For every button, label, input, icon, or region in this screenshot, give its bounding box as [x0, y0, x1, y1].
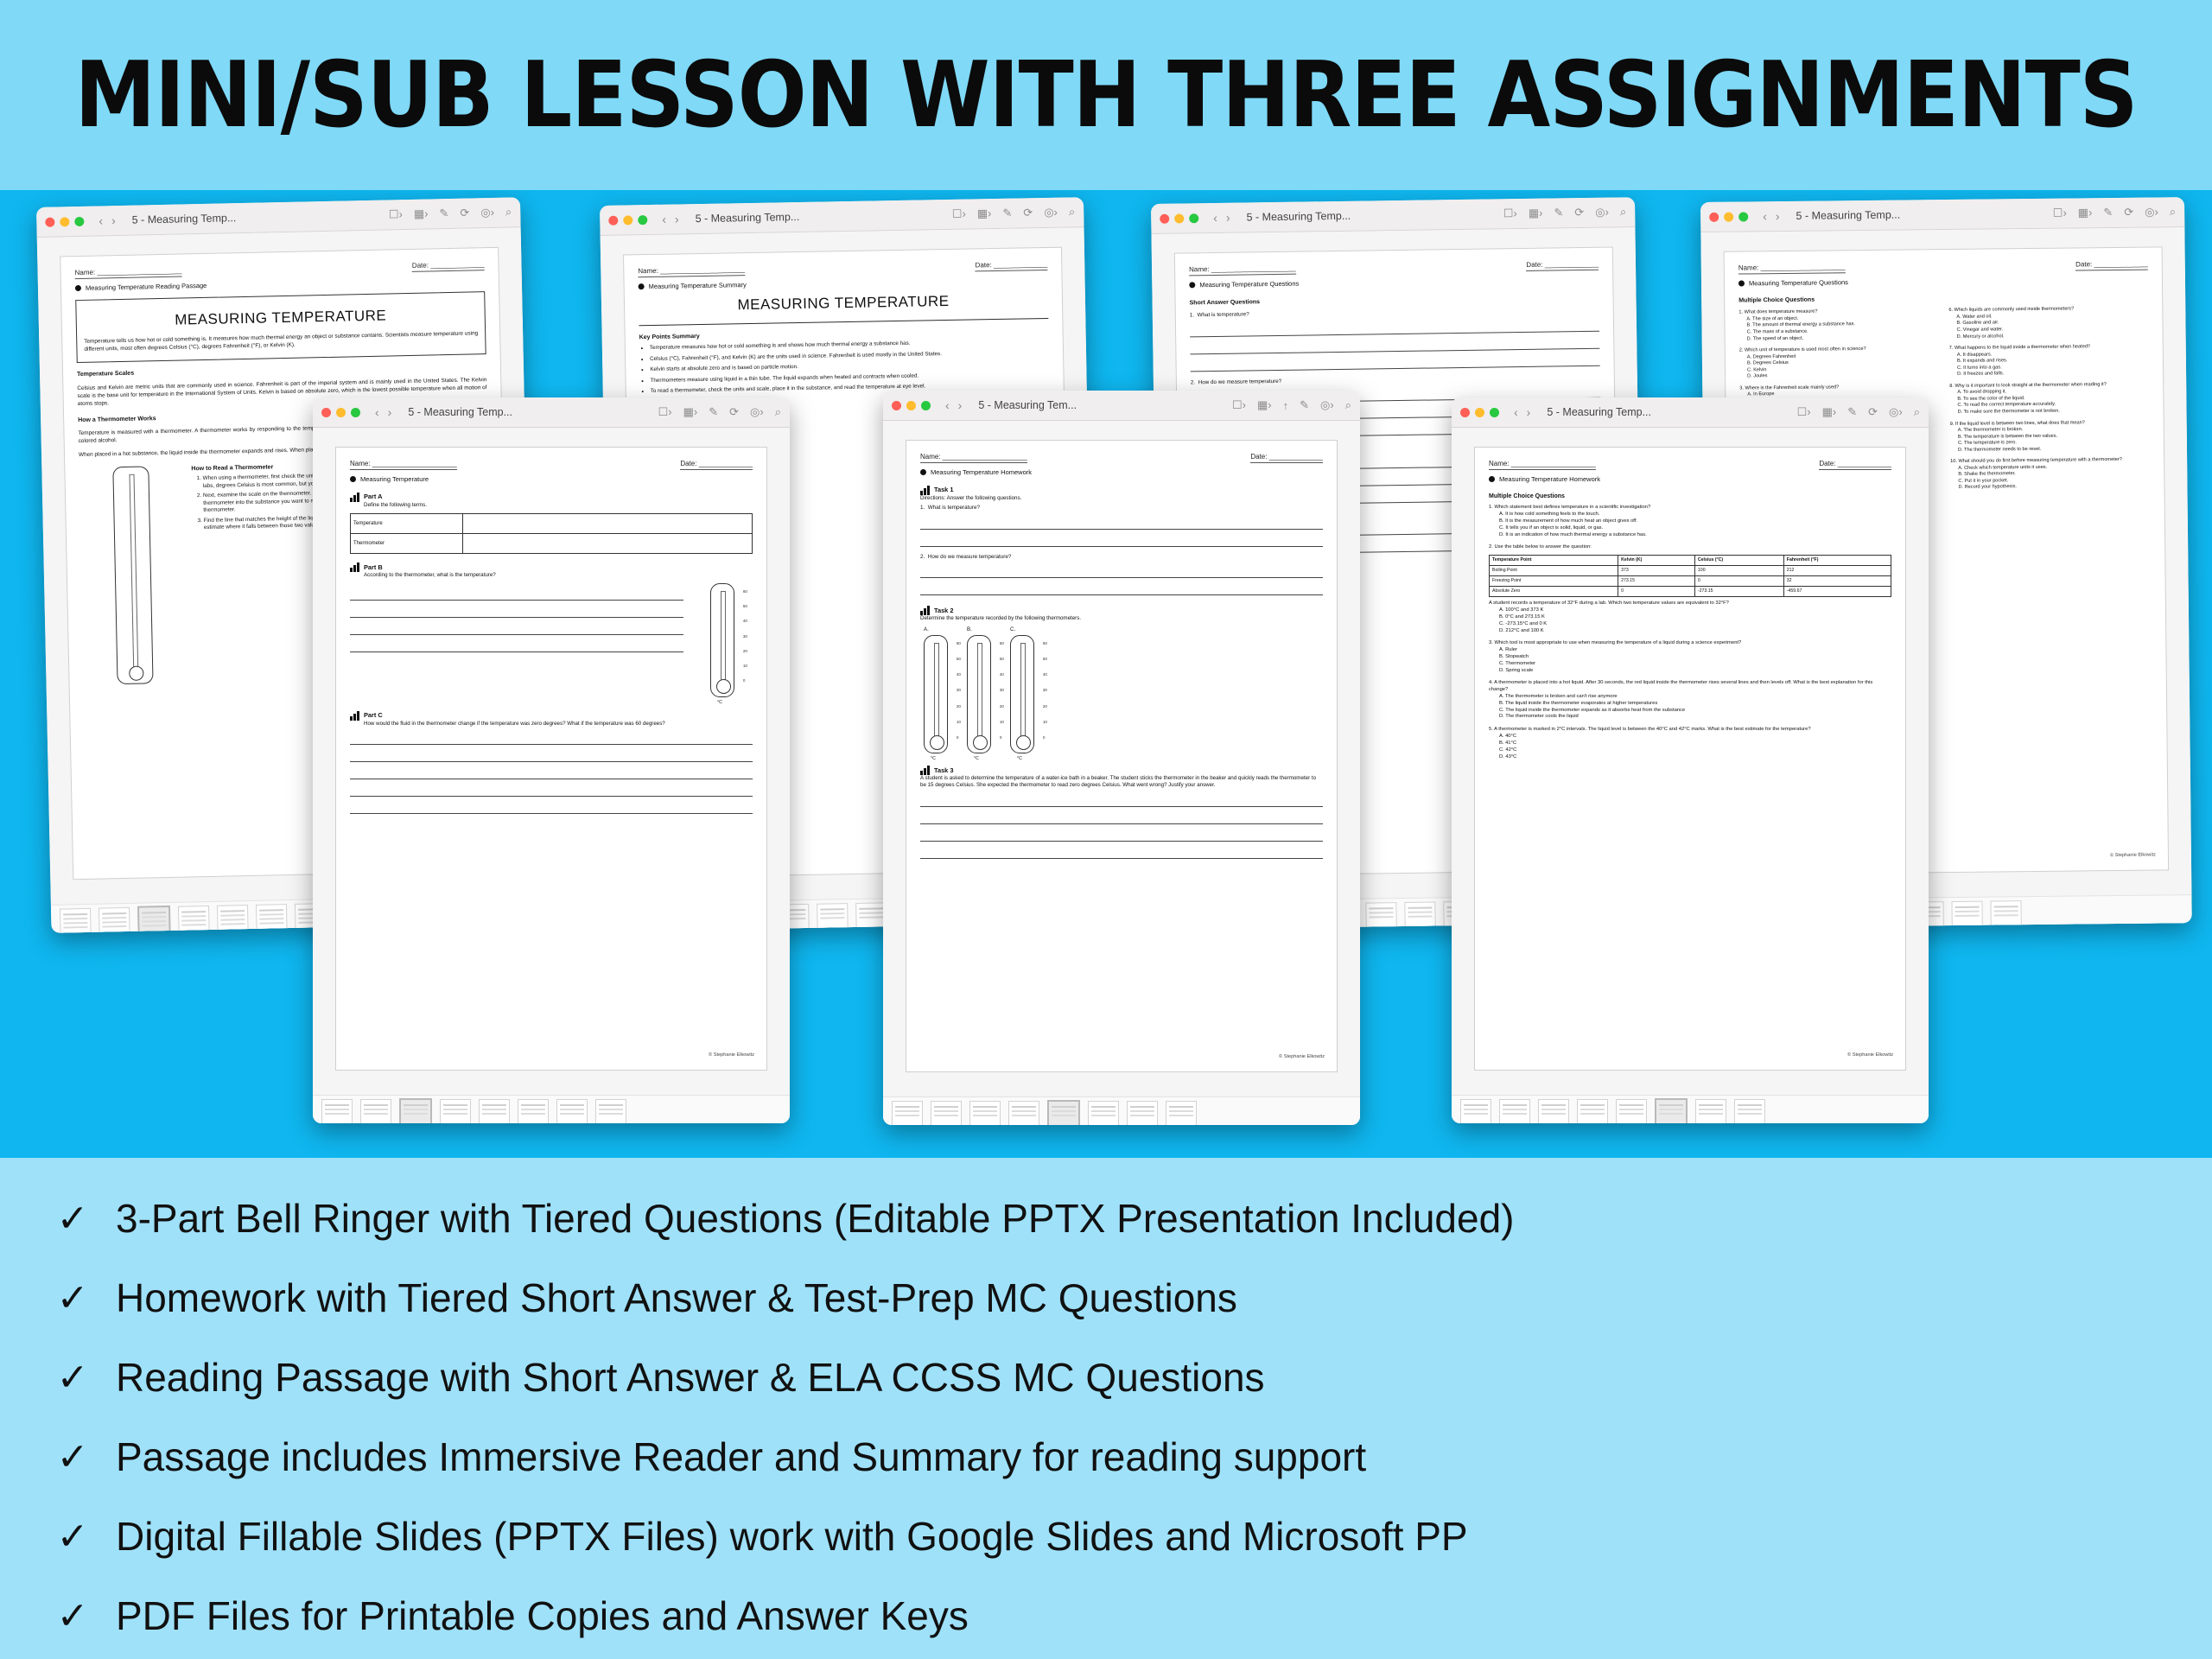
search-icon[interactable]: ⌕	[775, 405, 781, 419]
answer-line[interactable]	[350, 607, 683, 618]
header-banner: MINI/SUB LESSON WITH THREE ASSIGNMENTS	[0, 0, 2212, 190]
thumbnail-5[interactable]	[217, 905, 249, 933]
definitions-table[interactable]: Temperature Thermometer	[350, 513, 753, 554]
markup-icon[interactable]: ✎	[1002, 207, 1012, 220]
mc-option[interactable]: A. Ruler	[1499, 647, 1891, 654]
mc-option[interactable]: C. -273.15°C and 0 K	[1499, 621, 1891, 628]
thermometer-unit: °C	[1017, 756, 1022, 762]
thumbnail-3[interactable]	[137, 905, 171, 932]
more-icon[interactable]: ◎›	[2145, 205, 2158, 219]
divider	[639, 318, 1048, 326]
window-toolbar[interactable]: ☐› ▦› ✎ ⟳ ◎› ⌕	[658, 405, 781, 419]
task2-header: Task 2	[920, 606, 1323, 615]
thumbnail-2[interactable]	[99, 906, 130, 932]
thumbnail-4[interactable]	[440, 1099, 471, 1124]
bar-chart-icon	[920, 606, 930, 615]
feature-item: ✓ Digital Fillable Slides (PPTX Files) w…	[52, 1497, 2160, 1576]
org-line: Measuring Temperature Summary	[639, 276, 1048, 291]
mc-option[interactable]: D. It freezes and falls.	[1957, 370, 2149, 378]
bullet-icon	[1189, 283, 1195, 289]
mc-option[interactable]: B. The liquid inside the thermometer eva…	[1499, 701, 1891, 708]
thumbnail-7[interactable]	[1404, 901, 1436, 930]
thermometer-graphic: 60 50 40 30 20 10 0 °C	[1010, 635, 1034, 753]
thermometer-bulb	[716, 679, 731, 694]
answer-line[interactable]	[350, 589, 683, 601]
thumbnail-7[interactable]	[556, 1099, 588, 1124]
thumbnail-1[interactable]	[1460, 1099, 1491, 1124]
thumbnail-6[interactable]	[1655, 1098, 1688, 1124]
thumbnail-7[interactable]	[1951, 900, 1982, 928]
finder-window-homework-short-answer[interactable]: ‹› 5 - Measuring Tem... ☐› ▦› ↑ ✎ ◎› ⌕ N…	[883, 391, 1360, 1125]
grid-icon[interactable]: ▦›	[1529, 207, 1543, 220]
thumbnail-3[interactable]	[399, 1098, 432, 1124]
forward-chevron-icon[interactable]: ›	[111, 213, 116, 227]
view-mode-icon[interactable]: ☐›	[389, 207, 403, 221]
document-preview-area: Name: ______________________ Date: _____…	[1452, 428, 1929, 1123]
rotate-icon[interactable]: ⟳	[2124, 206, 2133, 219]
minimize-icon[interactable]	[1174, 213, 1184, 223]
table-cell: 212	[1783, 566, 1891, 576]
rotate-icon[interactable]: ⟳	[1023, 206, 1033, 219]
mc-option[interactable]: A. 40°C	[1499, 734, 1891, 741]
table-cell-answer[interactable]	[463, 534, 753, 554]
back-chevron-icon[interactable]: ‹	[1514, 405, 1518, 419]
date-field[interactable]: Date: ______________	[1819, 460, 1891, 470]
answer-line[interactable]	[920, 518, 1323, 530]
thumbnail-7[interactable]	[1127, 1101, 1158, 1126]
grid-icon[interactable]: ▦›	[1822, 405, 1837, 419]
window-toolbar[interactable]: ☐› ▦› ✎ ⟳ ◎› ⌕	[952, 205, 1076, 220]
close-icon[interactable]	[892, 401, 901, 410]
screenshot-stage: ‹› 5 - Measuring Temp... ☐› ▦› ✎ ⟳ ◎› ⌕ …	[0, 190, 2212, 1158]
worksheet-title: MEASURING TEMPERATURE	[639, 290, 1048, 317]
thumbnail-strip[interactable]	[883, 1096, 1360, 1125]
view-mode-icon[interactable]: ☐›	[1232, 398, 1246, 412]
name-field[interactable]: Name: ______________________	[1489, 460, 1596, 470]
window-toolbar[interactable]: ☐› ▦› ↑ ✎ ◎› ⌕	[1232, 398, 1351, 412]
table-cell: 100	[1694, 566, 1783, 576]
name-date-row: Name: ______________________ Date: _____…	[350, 460, 753, 470]
name-field[interactable]: Name: ______________________	[1738, 263, 1846, 274]
search-icon[interactable]: ⌕	[2170, 205, 2176, 219]
table-cell: 0	[1618, 587, 1695, 597]
question-item: 1. What is temperature?	[920, 505, 1323, 512]
traffic-lights[interactable]	[1160, 213, 1198, 224]
minimize-icon[interactable]	[336, 408, 346, 417]
view-mode-icon[interactable]: ☐›	[952, 207, 966, 221]
mc-option[interactable]: D. 212°C and 100 K	[1499, 628, 1891, 635]
zoom-icon[interactable]	[638, 215, 647, 225]
back-chevron-icon[interactable]: ‹	[1213, 211, 1217, 225]
mc-option[interactable]: D. The thermometer cools the liquid	[1499, 714, 1891, 721]
grid-icon[interactable]: ▦›	[1257, 398, 1272, 412]
date-field[interactable]: Date: ______________	[412, 260, 485, 272]
search-icon[interactable]: ⌕	[1914, 405, 1920, 419]
date-field[interactable]: Date: ______________	[1250, 453, 1323, 463]
thumbnail-7[interactable]	[1695, 1099, 1726, 1124]
mc-option[interactable]: D. Record your hypothesis.	[1958, 483, 2150, 492]
section-title: Multiple Choice Questions	[1738, 293, 2148, 305]
thermometer-bulb	[930, 735, 944, 750]
search-icon[interactable]: ⌕	[505, 205, 512, 219]
org-line: Measuring Temperature Reading Passage	[75, 276, 485, 293]
grid-icon[interactable]: ▦›	[2078, 206, 2093, 219]
date-field[interactable]: Date: ______________	[2075, 260, 2148, 271]
thermometer-scale: 60 50 40 30 20 10 0	[743, 589, 747, 684]
table-cell: -459.67	[1783, 587, 1891, 597]
feature-text: Digital Fillable Slides (PPTX Files) wor…	[116, 1513, 1468, 1560]
mc-option[interactable]: C. Thermometer	[1499, 661, 1891, 668]
mc-option[interactable]: D. Joules	[1747, 372, 1939, 380]
answer-line[interactable]	[350, 751, 753, 762]
zoom-icon[interactable]	[1189, 213, 1198, 223]
window-nav[interactable]: ‹›	[1763, 209, 1780, 223]
share-icon[interactable]: ↑	[1283, 399, 1289, 412]
section-title: Short Answer Questions	[1190, 294, 1599, 308]
mc-option[interactable]: B. 0°C and 273.15 K	[1499, 614, 1891, 621]
mc-option[interactable]: B. Stopwatch	[1499, 654, 1891, 661]
document-preview-area: Name: ______________________ Date: _____…	[883, 421, 1360, 1125]
thumbnail-4[interactable]	[178, 905, 210, 932]
thumbnail-4[interactable]	[1577, 1099, 1608, 1124]
window-toolbar[interactable]: ☐› ▦› ✎ ⟳ ◎› ⌕	[389, 205, 512, 221]
worksheet-page: Name: ______________________ Date: _____…	[906, 440, 1338, 1072]
close-icon[interactable]	[1160, 213, 1169, 223]
org-line: Measuring Temperature Questions	[1738, 275, 2148, 288]
zoom-icon[interactable]	[351, 408, 360, 417]
markup-icon[interactable]: ✎	[1554, 206, 1563, 219]
mc-option[interactable]: D. It is an indication of how much therm…	[1499, 532, 1891, 539]
window-nav[interactable]: ‹›	[375, 405, 391, 419]
date-field[interactable]: Date: ______________	[1526, 260, 1599, 271]
markup-icon[interactable]: ✎	[2103, 206, 2113, 219]
check-icon: ✓	[52, 1515, 93, 1559]
forward-chevron-icon[interactable]: ›	[1527, 405, 1531, 419]
thermometer-graphic: 60 50 40 30 20 10 0 °C	[924, 635, 948, 753]
forward-chevron-icon[interactable]: ›	[388, 405, 392, 419]
mc-option[interactable]: C. 42°C	[1499, 747, 1891, 754]
mc-item: 7. What happens to the liquid inside a t…	[1949, 344, 2149, 378]
thermometer-stem	[934, 643, 939, 741]
more-icon[interactable]: ◎›	[750, 405, 764, 419]
table-cell: 32	[1783, 576, 1891, 587]
back-chevron-icon[interactable]: ‹	[1763, 209, 1767, 223]
answer-line[interactable]	[350, 785, 753, 797]
forward-chevron-icon[interactable]: ›	[675, 212, 679, 226]
thermometer-graphic: 60 50 40 30 20 10 0 °C	[967, 635, 991, 753]
org-line: Measuring Temperature Homework	[1489, 475, 1891, 484]
mc-option[interactable]: C. The liquid inside the thermometer exp…	[1499, 708, 1891, 715]
thumbnail-8[interactable]	[1734, 1099, 1765, 1124]
forward-chevron-icon[interactable]: ›	[958, 398, 963, 412]
check-icon: ✓	[52, 1356, 93, 1400]
markup-icon[interactable]: ✎	[1847, 405, 1857, 419]
org-label: Measuring Temperature Questions	[1199, 279, 1299, 289]
more-icon[interactable]: ◎›	[1595, 206, 1609, 219]
mc-option[interactable]: A. The thermometer is broken and can't r…	[1499, 694, 1891, 701]
answer-line[interactable]	[920, 567, 1323, 578]
rotate-icon[interactable]: ⟳	[1868, 405, 1878, 419]
window-nav[interactable]: ‹›	[99, 213, 116, 227]
name-date-row: Name: ______________________ Date: _____…	[1489, 460, 1891, 470]
thumbnail-strip[interactable]	[1452, 1095, 1929, 1123]
thermometer-stem	[977, 643, 982, 741]
thumbnail-5[interactable]	[1616, 1099, 1647, 1124]
table-row: Absolute Zero 0 -273.15 -459.67	[1490, 587, 1891, 597]
search-icon[interactable]: ⌕	[1069, 205, 1076, 219]
mc-option[interactable]: D. 43°C	[1499, 754, 1891, 761]
search-icon[interactable]: ⌕	[1620, 205, 1627, 219]
minimize-icon[interactable]	[906, 401, 916, 410]
answer-line[interactable]	[350, 641, 683, 652]
thumbnail-8[interactable]	[1990, 900, 2021, 928]
page-title: MINI/SUB LESSON WITH THREE ASSIGNMENTS	[75, 42, 2138, 148]
zoom-icon[interactable]	[921, 401, 931, 410]
table-cell: 0	[1694, 576, 1783, 587]
org-label: Measuring Temperature Homework	[1499, 475, 1600, 484]
finder-window-bell-ringer[interactable]: ‹› 5 - Measuring Temp... ☐› ▦› ✎ ⟳ ◎› ⌕ …	[313, 397, 790, 1123]
thumbnail-3[interactable]	[1538, 1099, 1569, 1124]
grid-icon[interactable]: ▦›	[414, 207, 429, 221]
thumbnail-4[interactable]	[1008, 1101, 1039, 1126]
thumbnail-1[interactable]	[60, 907, 92, 932]
forward-chevron-icon[interactable]: ›	[1776, 209, 1780, 223]
bar-chart-icon	[920, 486, 930, 495]
thermometer-item-b: B. 60 50 40 30 20 10	[967, 626, 991, 753]
thumbnail-8[interactable]	[1166, 1101, 1197, 1126]
check-icon: ✓	[52, 1276, 93, 1320]
answer-line[interactable]	[350, 803, 753, 814]
thumbnail-5[interactable]	[479, 1099, 510, 1124]
minimize-icon[interactable]	[623, 215, 632, 225]
more-icon[interactable]: ◎›	[1320, 398, 1334, 412]
answer-line[interactable]	[1191, 355, 1600, 372]
answer-line[interactable]	[1190, 321, 1599, 338]
thermometer-scale: 60 50 40 30 20 10 0	[1000, 641, 1004, 741]
mc-option[interactable]: D. The thermometer needs to be reset.	[1958, 445, 2150, 454]
name-field[interactable]: Name: ______________________	[350, 460, 457, 470]
mc-option[interactable]: D. To make sure the thermometer is not b…	[1958, 408, 2150, 416]
org-line: Measuring Temperature Homework	[920, 468, 1323, 477]
task2-instruction: Determine the temperature recorded by th…	[920, 615, 1323, 622]
mc-item: 9. If the liquid level is between two li…	[1950, 419, 2150, 454]
name-field[interactable]: Name: ______________________	[74, 266, 181, 278]
rotate-icon[interactable]: ⟳	[1574, 206, 1584, 219]
zoom-icon[interactable]	[1490, 408, 1499, 417]
copyright-note: © Stephanie Elkowitz	[1847, 1052, 1893, 1059]
answer-line[interactable]	[920, 813, 1323, 824]
answer-line[interactable]	[920, 848, 1323, 859]
answer-line[interactable]	[350, 734, 753, 745]
close-icon[interactable]	[45, 217, 54, 226]
thumbnail-6[interactable]	[817, 903, 849, 931]
window-titlebar[interactable]: ‹› 5 - Measuring Tem... ☐› ▦› ↑ ✎ ◎› ⌕	[883, 391, 1360, 421]
traffic-lights[interactable]	[1460, 408, 1499, 417]
mc-option[interactable]: D. The speed of an object.	[1747, 334, 1939, 343]
finder-window-homework-mc[interactable]: ‹› 5 - Measuring Temp... ☐› ▦› ✎ ⟳ ◎› ⌕ …	[1452, 397, 1929, 1123]
more-icon[interactable]: ◎›	[480, 206, 494, 219]
view-mode-icon[interactable]: ☐›	[1503, 207, 1517, 220]
thumbnail-6[interactable]	[1365, 902, 1397, 930]
window-nav[interactable]: ‹›	[1514, 405, 1530, 419]
back-chevron-icon[interactable]: ‹	[945, 398, 950, 412]
markup-icon[interactable]: ✎	[439, 207, 448, 220]
table-cell: 273.15	[1618, 576, 1695, 587]
window-titlebar[interactable]: ‹› 5 - Measuring Temp... ☐› ▦› ✎ ⟳ ◎› ⌕	[1452, 397, 1929, 428]
bullet-icon	[1489, 476, 1495, 482]
window-toolbar[interactable]: ☐› ▦› ✎ ⟳ ◎› ⌕	[2053, 205, 2177, 219]
view-mode-icon[interactable]: ☐›	[1797, 405, 1811, 419]
name-field[interactable]: Name: ______________________	[920, 453, 1027, 463]
thumbnail-6[interactable]	[1088, 1101, 1119, 1126]
traffic-lights[interactable]	[608, 215, 647, 226]
table-header-row: Temperature Point Kelvin (K) Celsius (°C…	[1490, 556, 1891, 566]
view-mode-icon[interactable]: ☐›	[658, 405, 672, 419]
part-b-instruction: According to the thermometer, what is th…	[364, 572, 753, 579]
thumbnail-8[interactable]	[595, 1099, 626, 1124]
table-cell: Thermometer	[351, 534, 463, 554]
close-icon[interactable]	[608, 215, 618, 225]
thumbnail-2[interactable]	[360, 1099, 391, 1124]
mc-option[interactable]: D. Mercury or alcohol.	[1957, 332, 2149, 340]
thermometer-scale: 60 50 40 30 20 10 0	[1043, 641, 1047, 741]
window-toolbar[interactable]: ☐› ▦› ✎ ⟳ ◎› ⌕	[1797, 405, 1920, 419]
close-icon[interactable]	[1709, 212, 1719, 221]
answer-line[interactable]	[920, 830, 1323, 842]
thumbnail-6[interactable]	[518, 1099, 549, 1124]
minimize-icon[interactable]	[60, 217, 69, 226]
thermometer-scale: 60 50 40 30 20 10 0	[957, 641, 961, 741]
minimize-icon[interactable]	[1724, 212, 1733, 221]
date-field[interactable]: Date: ______________	[976, 260, 1048, 271]
minimize-icon[interactable]	[1475, 408, 1484, 417]
thumbnail-1[interactable]	[321, 1099, 353, 1124]
mc-item: 6. Which liquids are commonly used insid…	[1948, 306, 2148, 340]
grid-icon[interactable]: ▦›	[977, 207, 992, 220]
thumbnail-5[interactable]	[1047, 1100, 1080, 1126]
window-nav[interactable]: ‹›	[945, 398, 962, 412]
markup-icon[interactable]: ✎	[1300, 398, 1309, 412]
answer-line[interactable]	[920, 584, 1323, 595]
feature-text: Reading Passage with Short Answer & ELA …	[116, 1354, 1265, 1401]
thumbnail-strip[interactable]	[313, 1095, 790, 1123]
bullet-icon	[1738, 281, 1745, 287]
mc-option[interactable]: A. It is how cold something feels to the…	[1499, 512, 1891, 518]
part-a-instruction: Define the following terms.	[364, 502, 753, 509]
name-field[interactable]: Name: ______________________	[1189, 264, 1296, 276]
name-field[interactable]: Name: ______________________	[638, 265, 745, 277]
back-chevron-icon[interactable]: ‹	[99, 213, 103, 227]
close-icon[interactable]	[1460, 408, 1470, 417]
mc-option[interactable]: A. 100°C and 373 K	[1499, 607, 1891, 614]
mc-option[interactable]: C. It tells you if an object is solid, l…	[1499, 525, 1891, 532]
feature-item: ✓ 3-Part Bell Ringer with Tiered Questio…	[52, 1179, 2160, 1258]
more-icon[interactable]: ◎›	[1044, 206, 1058, 219]
part-a-header: Part A	[350, 493, 753, 502]
answer-line[interactable]	[350, 624, 683, 635]
bar-chart-icon	[920, 766, 930, 775]
table-header: Fahrenheit (°F)	[1783, 556, 1891, 566]
view-mode-icon[interactable]: ☐›	[2053, 207, 2067, 220]
thermometer-graphic: 60 50 40 30 20 10 0 °C	[710, 583, 734, 697]
name-date-row: Name: ______________________ Date: _____…	[1189, 260, 1599, 276]
grid-icon[interactable]: ▦›	[683, 405, 698, 419]
forward-chevron-icon[interactable]: ›	[1226, 211, 1230, 225]
more-icon[interactable]: ◎›	[1889, 405, 1903, 419]
traffic-lights[interactable]	[45, 216, 84, 226]
markup-icon[interactable]: ✎	[709, 405, 718, 419]
org-label: Measuring Temperature Questions	[1749, 278, 1848, 288]
copyright-note: © Stephanie Elkowitz	[1279, 1054, 1325, 1061]
thermometer-bulb	[973, 735, 988, 750]
window-title: 5 - Measuring Temp...	[1547, 406, 1651, 418]
window-nav[interactable]: ‹›	[662, 212, 679, 226]
task3-header: Task 3	[920, 766, 1323, 775]
traffic-lights[interactable]	[1709, 212, 1748, 221]
thermometer-stem	[721, 591, 726, 684]
mc-item-3: 3. Which tool is most appropriate to use…	[1489, 640, 1891, 674]
date-field[interactable]: Date: ______________	[680, 460, 753, 470]
window-titlebar[interactable]: ‹› 5 - Measuring Temp... ☐› ▦› ✎ ⟳ ◎› ⌕	[313, 397, 790, 428]
feature-text: Passage includes Immersive Reader and Su…	[116, 1433, 1366, 1480]
thumbnail-2[interactable]	[1499, 1099, 1530, 1124]
bar-chart-icon	[350, 711, 359, 721]
window-titlebar[interactable]: ‹› 5 - Measuring Temp... ☐› ▦› ✎ ⟳ ◎› ⌕	[1700, 197, 2184, 232]
answer-line[interactable]	[350, 768, 753, 779]
worksheet-page: Name: ______________________ Date: _____…	[335, 447, 767, 1071]
mc-option[interactable]: D. Spring scale	[1499, 668, 1891, 675]
zoom-icon[interactable]	[74, 216, 84, 226]
thumbnail-1[interactable]	[892, 1101, 923, 1126]
answer-line[interactable]	[920, 536, 1323, 547]
part-c-instruction: How would the fluid in the thermometer c…	[364, 721, 753, 728]
search-icon[interactable]: ⌕	[1345, 398, 1351, 412]
rotate-icon[interactable]: ⟳	[460, 207, 469, 220]
thermometer-item-c: C. 60 50 40 30 20 10	[1010, 626, 1034, 753]
name-date-row: Name: ______________________ Date: _____…	[638, 260, 1047, 277]
thumbnail-3[interactable]	[969, 1101, 1001, 1126]
table-cell-answer[interactable]	[463, 514, 753, 534]
thermometer-bulb	[129, 666, 143, 681]
window-nav[interactable]: ‹›	[1213, 211, 1230, 225]
feature-text: PDF Files for Printable Copies and Answe…	[116, 1592, 969, 1639]
answer-line[interactable]	[1190, 338, 1599, 355]
mc-item-1: 1. Which statement best defines temperat…	[1489, 505, 1891, 538]
check-icon: ✓	[52, 1435, 93, 1479]
window-toolbar[interactable]: ☐› ▦› ✎ ⟳ ◎› ⌕	[1503, 205, 1627, 220]
answer-line[interactable]	[920, 796, 1323, 807]
mc-item: 10. What should you do first before meas…	[1950, 457, 2150, 492]
traffic-lights[interactable]	[321, 408, 360, 417]
rotate-icon[interactable]: ⟳	[729, 405, 739, 419]
close-icon[interactable]	[321, 408, 331, 417]
traffic-lights[interactable]	[892, 401, 931, 410]
thumbnail-2[interactable]	[931, 1101, 962, 1126]
mc-option[interactable]: B. 41°C	[1499, 741, 1891, 747]
passage-box: MEASURING TEMPERATURE Temperature tells …	[75, 291, 486, 363]
zoom-icon[interactable]	[1738, 212, 1748, 221]
feature-text: 3-Part Bell Ringer with Tiered Questions…	[116, 1195, 1514, 1242]
back-chevron-icon[interactable]: ‹	[375, 405, 379, 419]
mc-option[interactable]: B. It is the measurement of how much hea…	[1499, 518, 1891, 525]
back-chevron-icon[interactable]: ‹	[662, 213, 666, 226]
thumbnail-6[interactable]	[256, 904, 288, 933]
mc-stem: A student records a temperature of 32°F …	[1489, 601, 1891, 607]
section-title: Multiple Choice Questions	[1489, 493, 1891, 500]
mc-item-5: 5. A thermometer is marked in 2°C interv…	[1489, 727, 1891, 760]
table-row: Boiling Point 373 100 212	[1490, 566, 1891, 576]
org-label: Measuring Temperature Homework	[931, 468, 1032, 477]
